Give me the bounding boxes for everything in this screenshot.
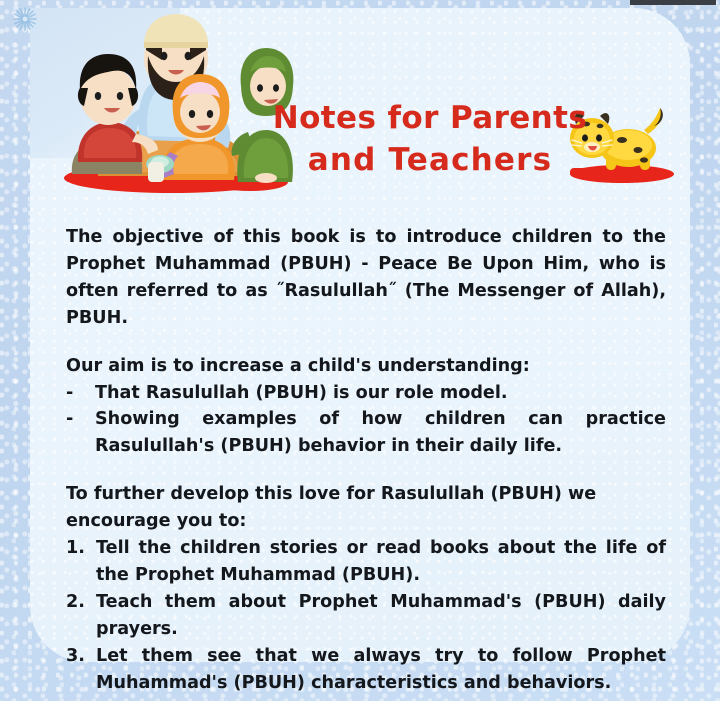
list-item-text: Let them see that we always try to follo…: [96, 646, 666, 693]
list-marker: -: [66, 406, 73, 433]
list-item-text: Tell the children stories or read books …: [96, 538, 666, 585]
list-item-text: That Rasulullah (PBUH) is our role model…: [95, 383, 508, 403]
list-marker: -: [66, 380, 73, 407]
list-marker: 3.: [66, 643, 85, 670]
objective-paragraph: The objective of this book is to introdu…: [66, 224, 666, 332]
encourage-list: 1. Tell the children stories or read boo…: [66, 535, 666, 696]
list-item: 1. Tell the children stories or read boo…: [66, 535, 666, 589]
book-page: Notes for Parents and Teachers The objec…: [0, 0, 720, 701]
encourage-heading: To further develop this love for Rasulul…: [66, 481, 666, 535]
spacer: [66, 460, 666, 481]
list-item: 3. Let them see that we always try to fo…: [66, 643, 666, 697]
list-marker: 2.: [66, 589, 85, 616]
list-item-text: Showing examples of how children can pra…: [95, 409, 666, 456]
aim-heading: Our aim is to increase a child's underst…: [66, 353, 666, 380]
list-item: - That Rasulullah (PBUH) is our role mod…: [66, 380, 666, 407]
list-item-text: Teach them about Prophet Muhammad's (PBU…: [96, 592, 666, 639]
snowflake-icon: [12, 6, 38, 32]
notes-content: The objective of this book is to introdu…: [66, 224, 666, 697]
page-title: Notes for Parents and Teachers: [270, 98, 590, 182]
muslim-family-illustration: [52, 12, 300, 198]
list-marker: 1.: [66, 535, 85, 562]
page-title-line-2: and Teachers: [270, 140, 590, 182]
list-item: - Showing examples of how children can p…: [66, 406, 666, 460]
aim-list: - That Rasulullah (PBUH) is our role mod…: [66, 380, 666, 461]
list-item: 2. Teach them about Prophet Muhammad's (…: [66, 589, 666, 643]
scan-edge-artifact: [630, 0, 716, 5]
page-title-line-1: Notes for Parents: [270, 98, 590, 140]
spacer: [66, 332, 666, 353]
